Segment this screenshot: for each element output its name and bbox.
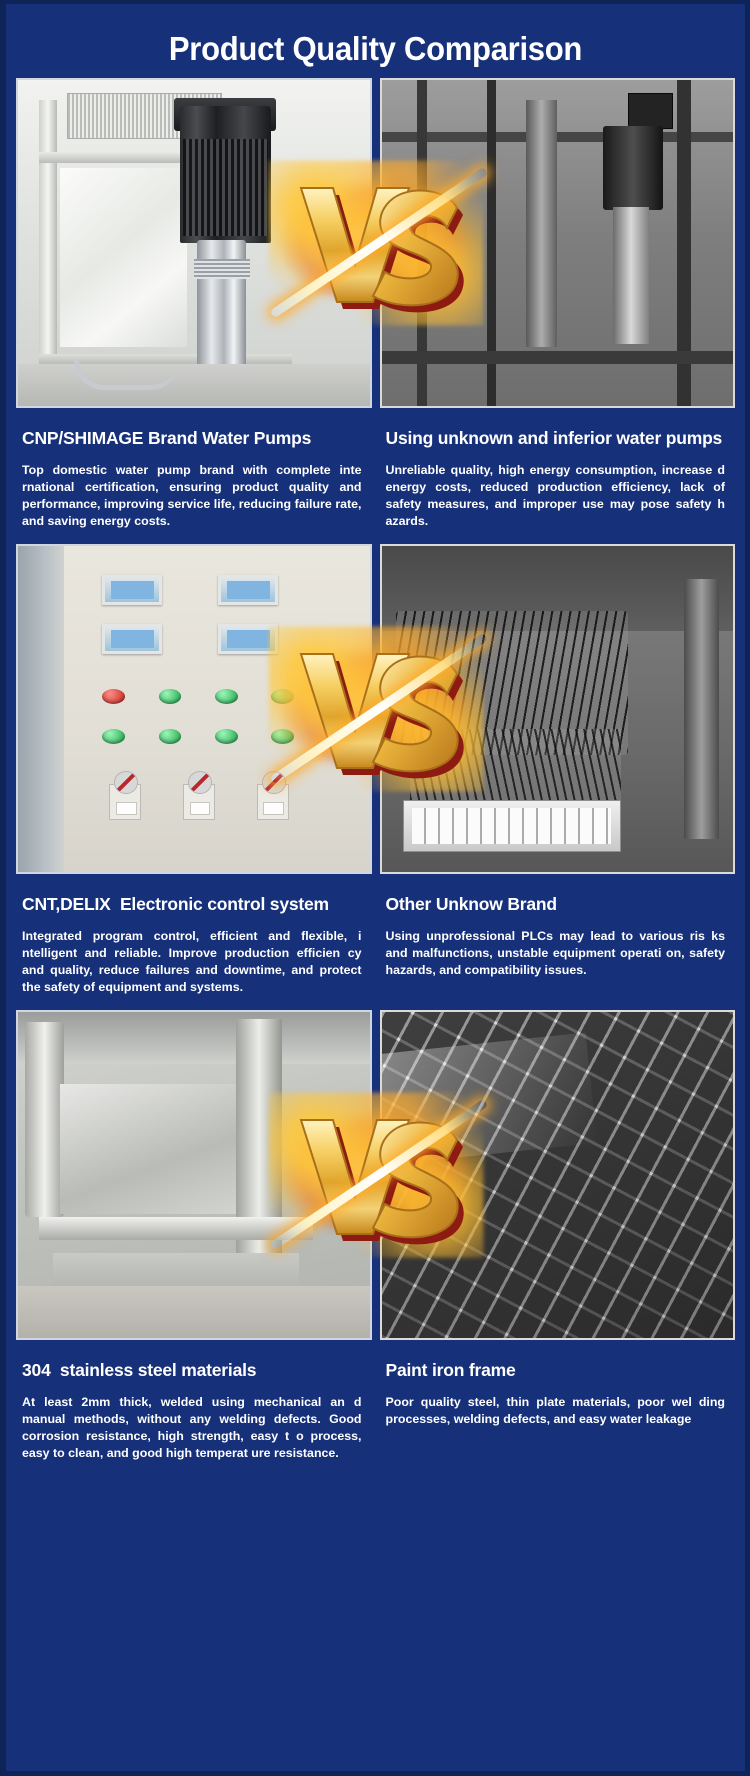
bad-text-column: Paint iron frame Poor quality steel, thi…	[380, 1340, 736, 1462]
photo-detail-switch-3	[257, 784, 289, 820]
bad-heading: Using unknown and inferior water pumps	[380, 408, 736, 449]
photo-detail-hmi-3	[102, 624, 162, 653]
photo-detail-motor	[603, 126, 663, 211]
bad-heading: Paint iron frame	[380, 1340, 736, 1381]
photo-detail-led-green-4	[102, 729, 125, 744]
bad-body: Unreliable quality, high energy consumpt…	[380, 449, 736, 530]
photo-detail-cabinet-side	[18, 546, 64, 872]
photo-detail-pipe	[74, 360, 179, 389]
photo-detail-pump-band	[194, 259, 250, 279]
comparison-row-water-pumps: CNP/SHIMAGE Brand Water Pumps Top domest…	[16, 78, 735, 530]
good-body: Top domestic water pump brand with compl…	[16, 449, 372, 530]
photo-detail-floor	[18, 1286, 370, 1338]
photo-background	[18, 546, 370, 872]
image-pair	[16, 544, 735, 874]
good-heading: CNT,DELIX Electronic control system	[16, 874, 372, 915]
photo-delix-control-cabinet	[16, 544, 372, 874]
photo-detail-breaker-row	[403, 800, 621, 852]
comparison-row-frame-materials: 304 stainless steel materials At least 2…	[16, 1010, 735, 1462]
photo-detail-panel	[60, 168, 187, 347]
bad-heading: Other Unknow Brand	[380, 874, 736, 915]
bad-image-panel	[380, 78, 736, 408]
photo-detail-rail-bottom	[382, 351, 734, 364]
image-pair	[16, 1010, 735, 1340]
good-heading: CNP/SHIMAGE Brand Water Pumps	[16, 408, 372, 449]
bad-body: Poor quality steel, thin plate materials…	[380, 1381, 736, 1428]
good-body: At least 2mm thick, welded using mechani…	[16, 1381, 372, 1462]
photo-detail-vessel-left	[25, 1022, 64, 1218]
bad-body: Using unprofessional PLCs may lead to va…	[380, 915, 736, 979]
photo-unknown-water-pump	[380, 78, 736, 408]
bad-text-column: Using unknown and inferior water pumps U…	[380, 408, 736, 530]
good-text-column: CNP/SHIMAGE Brand Water Pumps Top domest…	[16, 408, 372, 530]
photo-detail-rail	[684, 579, 719, 840]
photo-unknown-wiring-panel	[380, 544, 736, 874]
photo-detail-control-box	[628, 93, 674, 129]
text-pair: CNT,DELIX Electronic control system Inte…	[16, 874, 735, 996]
good-image-panel	[16, 78, 372, 408]
photo-detail-hmi-2	[218, 575, 278, 604]
photo-detail-floor	[18, 364, 370, 406]
comparison-row-control-system: CNT,DELIX Electronic control system Inte…	[16, 544, 735, 996]
photo-detail-switch-1	[109, 784, 141, 820]
good-text-column: CNT,DELIX Electronic control system Inte…	[16, 874, 372, 996]
photo-cnp-water-pump	[16, 78, 372, 408]
photo-304-stainless-frame	[16, 1010, 372, 1340]
infographic-page: Product Quality Comparison	[0, 0, 750, 1776]
good-text-column: 304 stainless steel materials At least 2…	[16, 1340, 372, 1462]
photo-detail-led-green-6	[215, 729, 238, 744]
image-pair	[16, 78, 735, 408]
photo-detail-switch-2	[183, 784, 215, 820]
photo-detail-motor-fins	[183, 139, 267, 237]
text-pair: 304 stainless steel materials At least 2…	[16, 1340, 735, 1462]
photo-detail-hmi-1	[102, 575, 162, 604]
photo-detail-top-pipe	[18, 1012, 370, 1064]
bad-text-column: Other Unknow Brand Using unprofessional …	[380, 874, 736, 996]
bad-image-panel	[380, 544, 736, 874]
photo-detail-beam	[39, 1217, 313, 1240]
photo-detail-led-green-7	[271, 729, 294, 744]
photo-detail-hmi-4	[218, 624, 278, 653]
text-pair: CNP/SHIMAGE Brand Water Pumps Top domest…	[16, 408, 735, 530]
bad-image-panel	[380, 1010, 736, 1340]
good-body: Integrated program control, efficient an…	[16, 915, 372, 996]
row-spacer	[6, 530, 745, 544]
good-image-panel	[16, 544, 372, 874]
photo-painted-iron-tubes	[380, 1010, 736, 1340]
good-heading: 304 stainless steel materials	[16, 1340, 372, 1381]
photo-detail-pump-body	[613, 207, 648, 344]
photo-detail-frame-left	[39, 100, 57, 387]
photo-detail-steel-plate	[60, 1084, 243, 1214]
page-title: Product Quality Comparison	[28, 4, 723, 78]
row-spacer	[6, 996, 745, 1010]
photo-detail-wire-bundle-2	[410, 729, 621, 801]
good-image-panel	[16, 1010, 372, 1340]
photo-detail-tank	[526, 100, 558, 348]
photo-detail-led-green-5	[159, 729, 182, 744]
